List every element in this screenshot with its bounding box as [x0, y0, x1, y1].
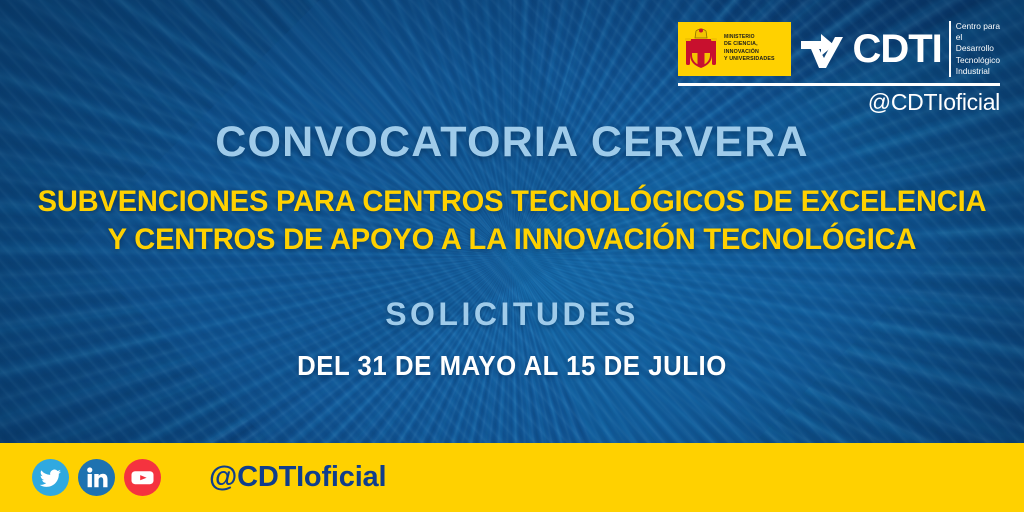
- section-label: SOLICITUDES: [0, 296, 1024, 333]
- date-range: DEL 31 DE MAYO AL 15 DE JULIO: [41, 350, 983, 382]
- cdti-wordmark: CDTI: [852, 31, 941, 67]
- cdti-tagline-line-2: Desarrollo: [956, 43, 1000, 54]
- youtube-icon[interactable]: [124, 459, 161, 496]
- logo-divider: [678, 83, 1000, 86]
- ministry-name: MINISTERIO DE CIENCIA, INNOVACIÓN Y UNIV…: [724, 34, 785, 64]
- footer-bar: @CDTIoficial: [0, 443, 1024, 512]
- promotional-banner: MINISTERIO DE CIENCIA, INNOVACIÓN Y UNIV…: [0, 0, 1024, 512]
- twitter-icon[interactable]: [32, 459, 69, 496]
- cdti-check-arrow-icon: [801, 29, 847, 69]
- ministry-line-3: Y UNIVERSIDADES: [724, 56, 785, 64]
- subtitle: SUBVENCIONES PARA CENTROS TECNOLÓGICOS D…: [15, 183, 1008, 260]
- cdti-tagline-line-1: Centro para el: [956, 21, 1000, 43]
- social-links: [32, 459, 161, 496]
- cdti-tagline-line-4: Industrial: [956, 66, 1000, 77]
- spain-coat-of-arms-icon: [684, 27, 718, 71]
- footer-handle[interactable]: @CDTIoficial: [209, 461, 386, 494]
- header-handle: @CDTIoficial: [678, 89, 1000, 116]
- linkedin-icon[interactable]: [78, 459, 115, 496]
- logo-row: MINISTERIO DE CIENCIA, INNOVACIÓN Y UNIV…: [678, 22, 1000, 76]
- ministry-line-2: DE CIENCIA, INNOVACIÓN: [724, 41, 785, 56]
- subtitle-line-1: SUBVENCIONES PARA CENTROS TECNOLÓGICOS D…: [15, 183, 1008, 221]
- cdti-logo: CDTI Centro para el Desarrollo Tecnológi…: [801, 21, 1000, 76]
- subtitle-line-2: Y CENTROS DE APOYO A LA INNOVACIÓN TECNO…: [15, 221, 1008, 259]
- header-logo-block: MINISTERIO DE CIENCIA, INNOVACIÓN Y UNIV…: [678, 22, 1000, 116]
- ministry-line-1: MINISTERIO: [724, 34, 785, 41]
- cdti-tagline: Centro para el Desarrollo Tecnológico In…: [949, 21, 1000, 76]
- ministry-logo: MINISTERIO DE CIENCIA, INNOVACIÓN Y UNIV…: [678, 22, 791, 76]
- cdti-tagline-line-3: Tecnológico: [956, 55, 1000, 66]
- page-title: CONVOCATORIA CERVERA: [0, 118, 1024, 167]
- main-copy: CONVOCATORIA CERVERA SUBVENCIONES PARA C…: [0, 118, 1024, 382]
